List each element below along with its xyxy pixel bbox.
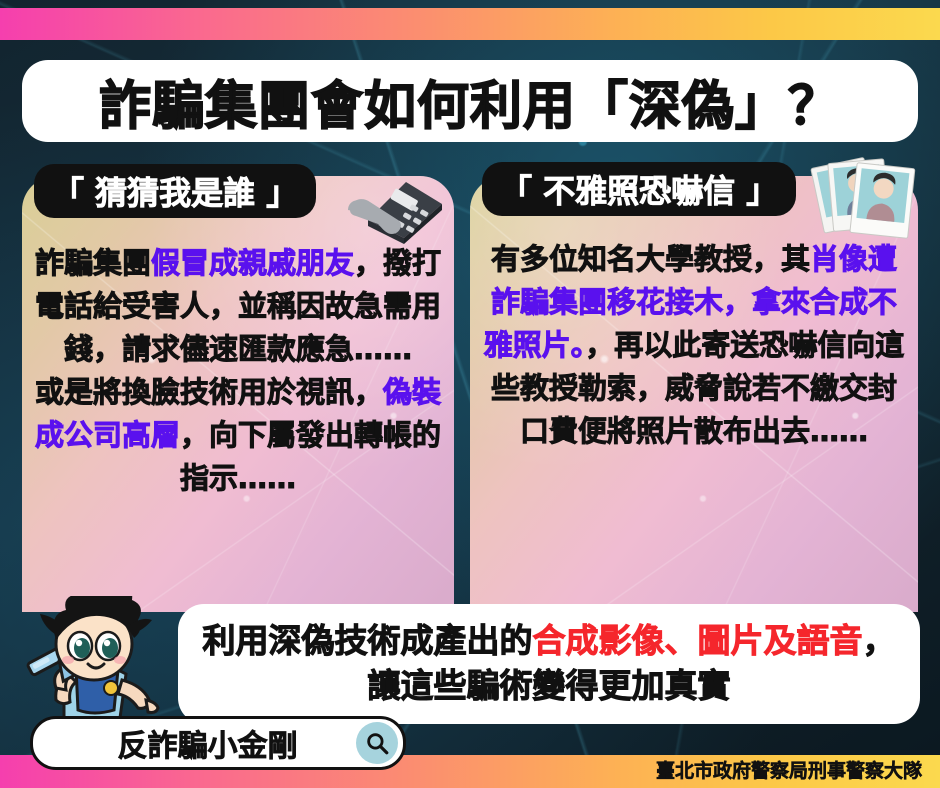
page-title: 詐騙集團會如何利用「深偽」？ bbox=[99, 64, 841, 139]
section-chip-label-guess-who: 「 猜猜我是誰 」 bbox=[52, 168, 298, 214]
text-run-purple: 假冒成親戚朋友 bbox=[151, 246, 354, 280]
text-run-normal: 或是將換臉技術用於視訊， bbox=[35, 375, 383, 409]
stacked-photos-icon bbox=[806, 152, 932, 262]
section-body-sextortion: 有多位知名大學教授，其肖像遭詐騙集團移花接木，拿來合成不雅照片。，再以此寄送恐嚇… bbox=[470, 238, 918, 453]
section-chip-label-sextortion: 「 不雅照恐嚇信 」 bbox=[500, 166, 778, 212]
section-body-guess-who: 詐騙集團假冒成親戚朋友，撥打電話給受害人，並稱因故急需用錢，請求儘速匯款應急……… bbox=[22, 242, 454, 499]
conclusion-banner: 利用深偽技術成產出的合成影像、圖片及語音，讓這些騙術變得更加真實 bbox=[178, 604, 920, 724]
top-gradient-bar bbox=[0, 8, 940, 40]
agency-name: 臺北市政府警察局刑事警察大隊 bbox=[656, 756, 922, 783]
search-pill[interactable]: 反詐騙小金剛 bbox=[30, 716, 406, 770]
search-input-value[interactable]: 反詐騙小金剛 bbox=[33, 721, 356, 765]
section-chip-sextortion: 「 不雅照恐嚇信 」 bbox=[482, 162, 796, 216]
section-chip-guess-who: 「 猜猜我是誰 」 bbox=[34, 164, 316, 218]
text-run-normal: ，向下屬發出轉帳的指示…… bbox=[180, 418, 441, 495]
desk-phone-icon bbox=[334, 166, 446, 246]
search-icon[interactable] bbox=[356, 722, 398, 764]
text-run-normal: 有多位知名大學教授，其 bbox=[491, 242, 810, 276]
text-run-normal: 利用深偽技術成產出的 bbox=[203, 621, 533, 660]
text-run-red: 合成影像、圖片及語音 bbox=[533, 621, 863, 660]
poster-root: 詐騙集團會如何利用「深偽」？ 詐騙集團假冒成親戚朋友，撥打電話給受害人，並稱因故… bbox=[0, 0, 940, 788]
text-run-normal: 詐騙集團 bbox=[35, 246, 151, 280]
conclusion-text: 利用深偽技術成產出的合成影像、圖片及語音，讓這些騙術變得更加真實 bbox=[178, 619, 920, 708]
title-banner: 詐騙集團會如何利用「深偽」？ bbox=[22, 60, 918, 142]
